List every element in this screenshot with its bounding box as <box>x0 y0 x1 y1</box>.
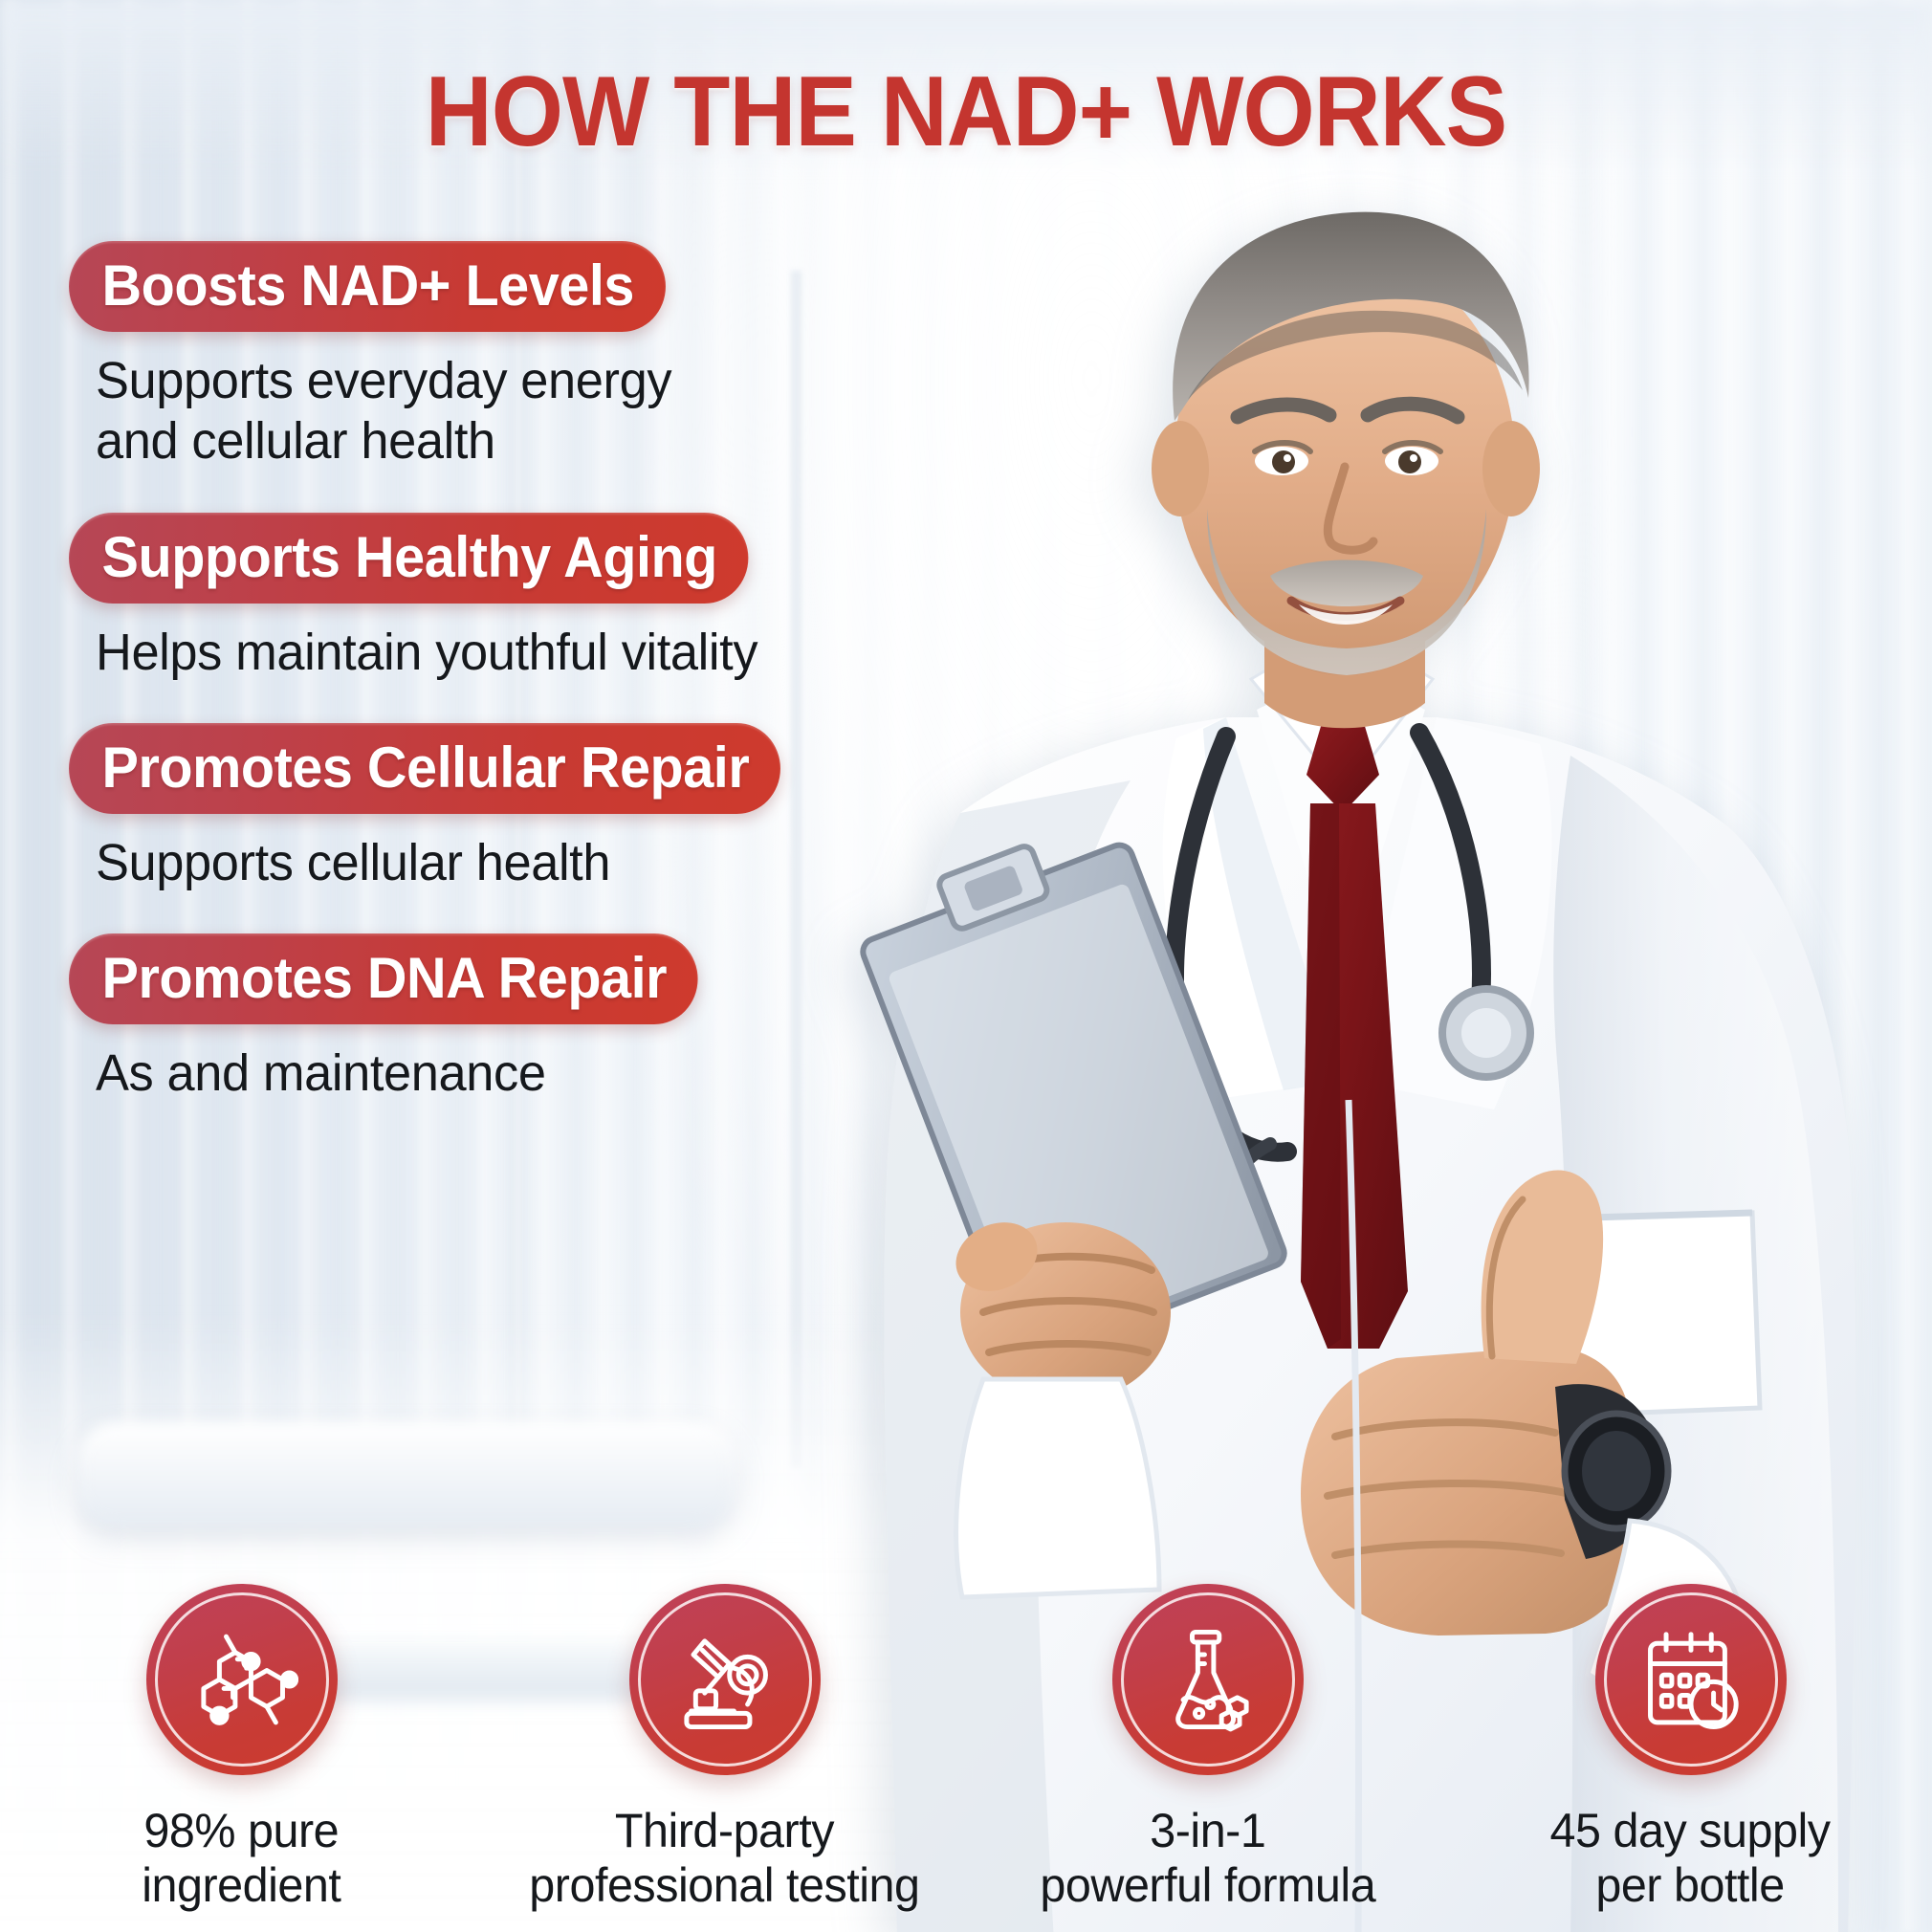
molecule-icon <box>186 1623 298 1736</box>
feature-label-2: Third-party professional testing <box>529 1804 919 1913</box>
benefit-pill-promotes-cellular-repair: Promotes Cellular Repair <box>69 723 780 814</box>
feature-circle-1 <box>146 1584 338 1775</box>
benefit-desc-4: As and maintenance <box>96 1043 838 1104</box>
flask-icon <box>1152 1623 1264 1736</box>
feature-label-4: 45 day supply per bottle <box>1550 1804 1831 1913</box>
feature-badges-row: 98% pure ingredient Third-party professi… <box>0 1584 1932 1913</box>
benefits-list: Boosts NAD+ Levels Supports everyday ene… <box>0 241 861 1145</box>
feature-badge-day-supply: 45 day supply per bottle <box>1449 1584 1932 1913</box>
feature-badge-powerful-formula: 3-in-1 powerful formula <box>966 1584 1449 1913</box>
feature-badge-third-party-testing: Third-party professional testing <box>483 1584 966 1913</box>
feature-circle-3 <box>1112 1584 1304 1775</box>
benefit-item-3: Promotes Cellular Repair Supports cellul… <box>0 723 861 893</box>
feature-badge-pure-ingredient: 98% pure ingredient <box>0 1584 483 1913</box>
benefit-item-2: Supports Healthy Aging Helps maintain yo… <box>0 513 861 683</box>
microscope-icon <box>669 1623 781 1736</box>
benefit-item-4: Promotes DNA Repair As and maintenance <box>0 933 861 1104</box>
calendar-clock-icon <box>1635 1623 1747 1736</box>
bed-rail <box>77 1422 735 1526</box>
benefit-pill-boosts-nad-levels: Boosts NAD+ Levels <box>69 241 666 332</box>
benefit-item-1: Boosts NAD+ Levels Supports everyday ene… <box>0 241 861 472</box>
feature-label-1: 98% pure ingredient <box>142 1804 340 1913</box>
benefit-pill-promotes-dna-repair: Promotes DNA Repair <box>69 933 698 1024</box>
benefit-desc-3: Supports cellular health <box>96 833 838 893</box>
feature-label-3: 3-in-1 powerful formula <box>1040 1804 1375 1913</box>
benefit-desc-1: Supports everyday energy and cellular he… <box>96 351 838 472</box>
page-title: HOW THE NAD+ WORKS <box>68 55 1865 169</box>
benefit-desc-2: Helps maintain youthful vitality <box>96 623 838 683</box>
feature-circle-2 <box>629 1584 821 1775</box>
benefit-pill-supports-healthy-aging: Supports Healthy Aging <box>69 513 749 604</box>
feature-circle-4 <box>1595 1584 1787 1775</box>
